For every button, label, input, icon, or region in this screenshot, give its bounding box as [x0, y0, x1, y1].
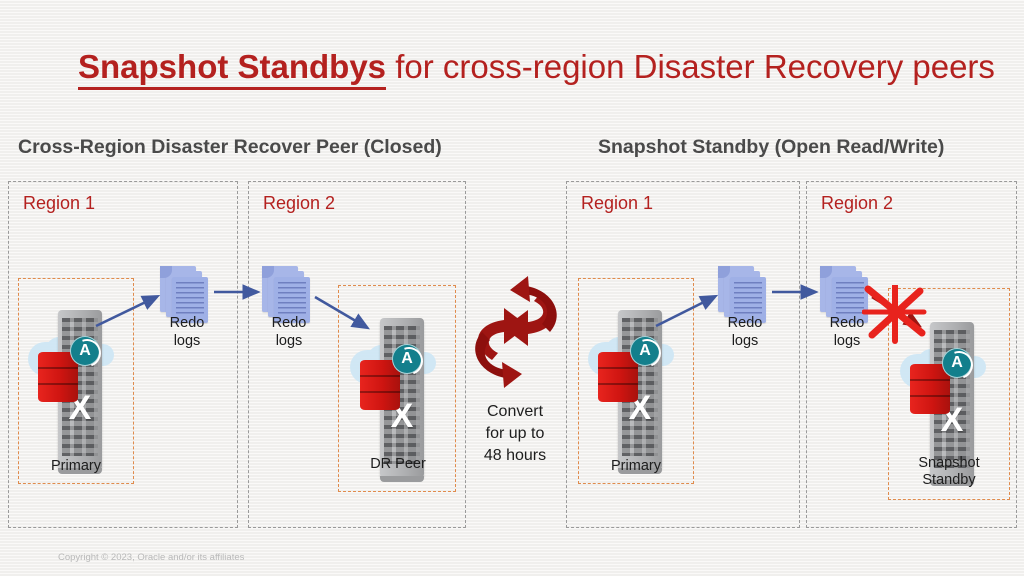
slide-canvas: Snapshot Standbys for cross-region Disas…	[0, 0, 1024, 576]
red-x-block-icon	[862, 285, 928, 347]
footer-copyright: Copyright © 2023, Oracle and/or its affi…	[58, 552, 244, 563]
